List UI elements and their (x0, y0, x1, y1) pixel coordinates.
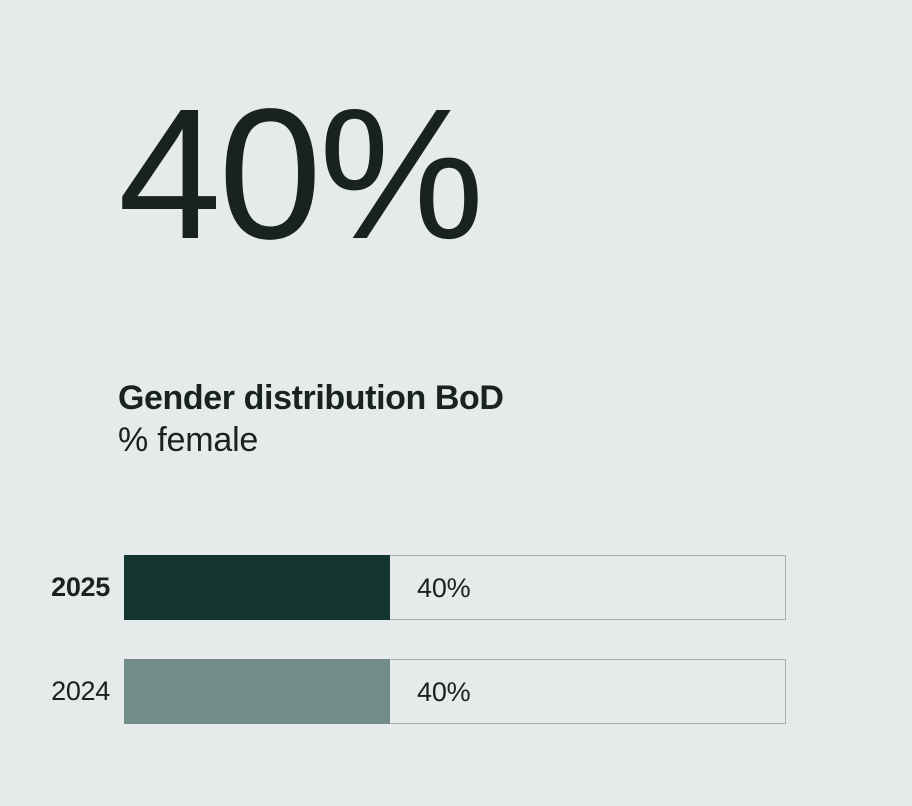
bar-track: 40% (124, 555, 786, 620)
chart-heading: Gender distribution BoD % female (118, 377, 504, 461)
bar-value-label: 40% (417, 556, 470, 621)
chart-subtitle: % female (118, 419, 504, 461)
chart-title: Gender distribution BoD (118, 377, 504, 419)
bar-category-label: 2025 (0, 555, 110, 620)
bar-row: 2024 40% (0, 659, 912, 724)
bar-row: 2025 40% (0, 555, 912, 620)
bar-fill (124, 659, 390, 724)
bar-chart: 2025 40% 2024 40% (0, 555, 912, 724)
bar-track: 40% (124, 659, 786, 724)
bar-fill (124, 555, 390, 620)
bar-category-label: 2024 (0, 659, 110, 724)
bar-value-label: 40% (417, 660, 470, 725)
kpi-headline-value: 40% (118, 82, 481, 268)
